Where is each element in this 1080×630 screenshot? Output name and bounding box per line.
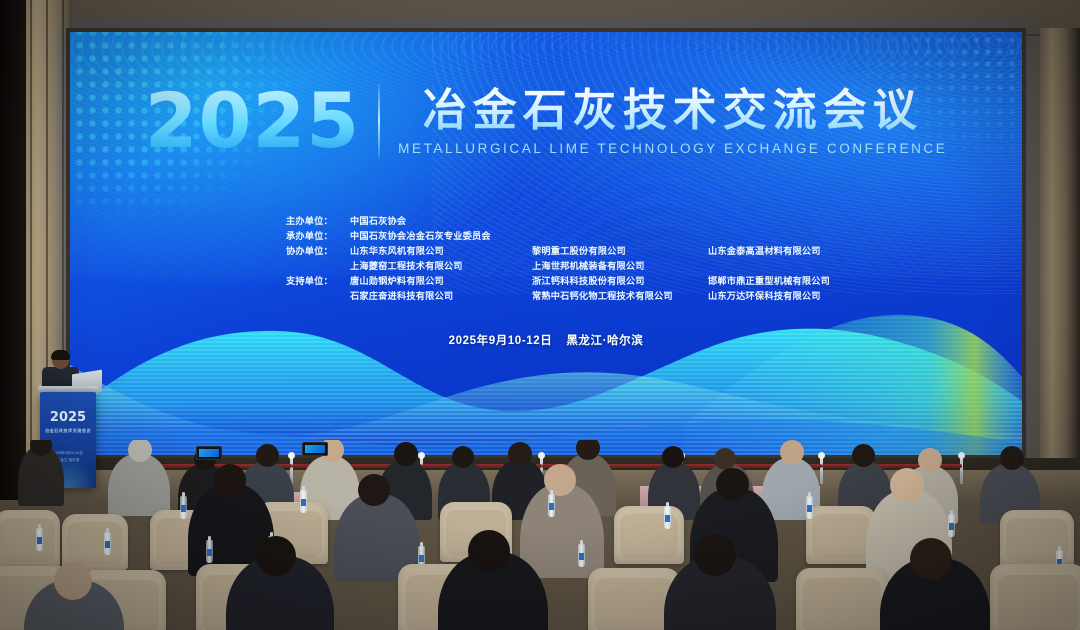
credit-label: 承办单位： bbox=[286, 229, 350, 244]
credit-col3: 邯郸市鼎正重型机械有限公司 bbox=[708, 274, 830, 289]
credit-label: 主办单位： bbox=[286, 214, 350, 229]
water-bottle bbox=[664, 506, 671, 529]
attendee-head bbox=[452, 446, 474, 468]
credit-row: 支持单位：唐山勋钢炉料有限公司浙江钙科科技股份有限公司邯郸市鼎正重型机械有限公司 bbox=[286, 274, 806, 289]
attendee-head bbox=[714, 448, 736, 470]
credit-label: 协办单位： bbox=[286, 244, 350, 259]
credit-col1: 石家庄奋进科技有限公司 bbox=[350, 289, 532, 304]
attendee-head bbox=[694, 534, 736, 576]
attendee-head bbox=[852, 444, 875, 467]
led-screen: 2025 冶金石灰技术交流会议 METALLURGICAL LIME TECHN… bbox=[70, 32, 1022, 455]
attendee-head bbox=[910, 538, 952, 580]
led-screen-frame: 2025 冶金石灰技术交流会议 METALLURGICAL LIME TECHN… bbox=[66, 28, 1026, 458]
credit-col1: 中国石灰协会冶金石灰专业委员会 bbox=[350, 229, 532, 244]
credit-col3: 山东万达环保科技有限公司 bbox=[708, 289, 821, 304]
credits-block: 主办单位：中国石灰协会承办单位：中国石灰协会冶金石灰专业委员会协办单位：山东华东… bbox=[70, 214, 1022, 303]
wave-graphic bbox=[70, 305, 1022, 455]
credit-col2: 常熟中石钙化物工程技术有限公司 bbox=[532, 289, 708, 304]
right-wall bbox=[1040, 28, 1080, 498]
credit-col3 bbox=[708, 214, 806, 229]
credit-label: 支持单位： bbox=[286, 274, 350, 289]
screen-headline: 2025 冶金石灰技术交流会议 METALLURGICAL LIME TECHN… bbox=[70, 84, 1022, 158]
attendee bbox=[520, 484, 604, 578]
left-dark-recess bbox=[0, 0, 26, 500]
attendee-head bbox=[544, 464, 576, 496]
credit-col1: 唐山勋钢炉料有限公司 bbox=[350, 274, 532, 289]
water-bottle bbox=[548, 494, 555, 517]
water-bottle bbox=[948, 514, 955, 537]
water-bottle bbox=[300, 490, 307, 513]
credit-label bbox=[286, 289, 350, 304]
attendee-head bbox=[54, 562, 92, 600]
podium-year: 2025 bbox=[40, 410, 96, 425]
attendee-head bbox=[780, 440, 804, 464]
attendee-head bbox=[256, 444, 279, 467]
attendee-head bbox=[890, 468, 924, 502]
attendee bbox=[108, 454, 170, 516]
water-bottle bbox=[104, 532, 111, 555]
attendee-head bbox=[214, 464, 246, 496]
water-bottle bbox=[206, 540, 213, 563]
smartphone bbox=[196, 446, 222, 460]
headline-divider bbox=[378, 84, 380, 158]
credit-col1: 山东华东风机有限公司 bbox=[350, 244, 532, 259]
water-bottle bbox=[578, 544, 585, 567]
attendee-head bbox=[256, 536, 296, 576]
attendee-head bbox=[394, 442, 418, 466]
credit-col2 bbox=[532, 229, 708, 244]
credit-label bbox=[286, 259, 350, 274]
water-bottle bbox=[180, 496, 187, 519]
attendee-head bbox=[468, 530, 510, 572]
credit-col2: 黎明重工股份有限公司 bbox=[532, 244, 708, 259]
attendee-head bbox=[918, 448, 942, 472]
credit-row: 上海夔窑工程技术有限公司上海世邦机械装备有限公司 bbox=[286, 259, 806, 274]
credit-row: 协办单位：山东华东风机有限公司黎明重工股份有限公司山东金泰高温材料有限公司 bbox=[286, 244, 806, 259]
credit-col2: 浙江钙科科技股份有限公司 bbox=[532, 274, 708, 289]
attendee-head bbox=[508, 442, 532, 466]
credit-col1: 上海夔窑工程技术有限公司 bbox=[350, 259, 532, 274]
headline-title-cn: 冶金石灰技术交流会议 bbox=[423, 86, 923, 135]
credit-row: 主办单位：中国石灰协会 bbox=[286, 214, 806, 229]
credit-col2: 上海世邦机械装备有限公司 bbox=[532, 259, 708, 274]
smartphone bbox=[302, 442, 328, 456]
attendee-head bbox=[662, 446, 684, 468]
podium-title-cn: 冶金石灰技术交流会议 bbox=[44, 428, 92, 434]
chair bbox=[614, 506, 684, 564]
attendee-head bbox=[358, 474, 390, 506]
water-bottle bbox=[36, 528, 43, 551]
credit-col3: 山东金泰高温材料有限公司 bbox=[708, 244, 821, 259]
headline-title-en: METALLURGICAL LIME TECHNOLOGY EXCHANGE C… bbox=[398, 141, 947, 156]
attendee-head bbox=[716, 468, 749, 501]
headline-year: 2025 bbox=[145, 86, 361, 156]
credit-row: 石家庄奋进科技有限公司常熟中石钙化物工程技术有限公司山东万达环保科技有限公司 bbox=[286, 289, 806, 304]
speaker-hair bbox=[51, 350, 70, 360]
credit-col1: 中国石灰协会 bbox=[350, 214, 532, 229]
chair bbox=[0, 510, 60, 568]
conference-hall-photo: 2025 冶金石灰技术交流会议 METALLURGICAL LIME TECHN… bbox=[0, 0, 1080, 630]
credit-row: 承办单位：中国石灰协会冶金石灰专业委员会 bbox=[286, 229, 806, 244]
credit-col3 bbox=[708, 229, 806, 244]
chair bbox=[796, 568, 888, 630]
credit-col3 bbox=[708, 259, 806, 274]
attendee-head bbox=[1000, 446, 1024, 470]
audience-area bbox=[0, 440, 1080, 630]
credit-col2 bbox=[532, 214, 708, 229]
chair bbox=[990, 564, 1080, 630]
water-bottle bbox=[806, 496, 813, 519]
